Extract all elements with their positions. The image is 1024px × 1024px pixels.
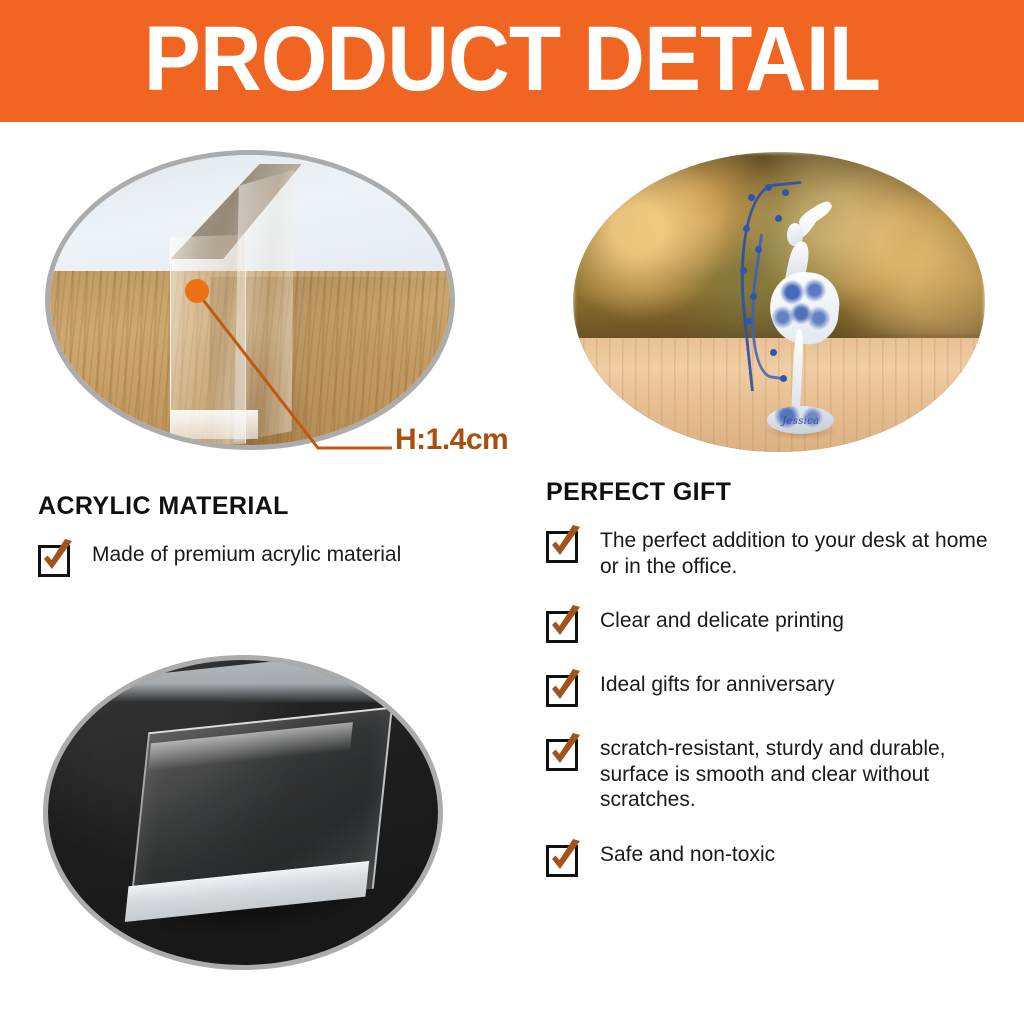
feature-text: Ideal gifts for anniversary bbox=[600, 667, 835, 698]
photo-block-base-highlight bbox=[170, 410, 258, 439]
page-title: PRODUCT DETAIL bbox=[144, 13, 880, 105]
photo-ballerina-figurine: Jessica bbox=[573, 152, 985, 452]
check-icon bbox=[546, 839, 584, 877]
photo-acrylic-block-edge bbox=[45, 150, 455, 450]
check-icon bbox=[546, 525, 584, 563]
list-item: Clear and delicate printing bbox=[546, 603, 1001, 643]
blossom-dot bbox=[780, 375, 787, 382]
checkbox-checked[interactable] bbox=[546, 525, 584, 563]
feature-text: Safe and non-toxic bbox=[600, 837, 775, 868]
list-item: Ideal gifts for anniversary bbox=[546, 667, 1001, 707]
check-icon bbox=[546, 733, 584, 771]
feature-text: The perfect addition to your desk at hom… bbox=[600, 523, 1001, 579]
feature-text: scratch-resistant, sturdy and durable, s… bbox=[600, 731, 1001, 813]
check-icon bbox=[38, 539, 76, 577]
checkbox-checked[interactable] bbox=[546, 733, 584, 771]
page-header-banner: PRODUCT DETAIL bbox=[0, 0, 1024, 122]
checkbox-checked[interactable] bbox=[38, 539, 76, 577]
photo-acrylic-slab bbox=[43, 655, 443, 970]
feature-list-perfect-gift: The perfect addition to your desk at hom… bbox=[546, 523, 1001, 877]
check-icon bbox=[546, 605, 584, 643]
check-icon bbox=[546, 669, 584, 707]
checkbox-checked[interactable] bbox=[546, 839, 584, 877]
list-item: Made of premium acrylic material bbox=[38, 537, 518, 577]
checkbox-checked[interactable] bbox=[546, 669, 584, 707]
figurine-base-engraving: Jessica bbox=[767, 416, 834, 427]
blossom-dot bbox=[740, 267, 747, 274]
feature-text: Made of premium acrylic material bbox=[92, 537, 401, 568]
feature-text: Clear and delicate printing bbox=[600, 603, 844, 634]
section-heading-perfect-gift: PERFECT GIFT bbox=[546, 478, 1001, 507]
figurine-group: Jessica bbox=[738, 179, 862, 437]
checkbox-checked[interactable] bbox=[546, 605, 584, 643]
section-acrylic-material: ACRYLIC MATERIAL Made of premium acrylic… bbox=[38, 492, 518, 601]
list-item: The perfect addition to your desk at hom… bbox=[546, 523, 1001, 579]
blossom-dot bbox=[750, 293, 757, 300]
photo-block-side-face bbox=[234, 170, 294, 443]
blossom-dot bbox=[775, 215, 782, 222]
list-item: scratch-resistant, sturdy and durable, s… bbox=[546, 731, 1001, 813]
section-heading-acrylic-material: ACRYLIC MATERIAL bbox=[38, 492, 518, 521]
list-item: Safe and non-toxic bbox=[546, 837, 1001, 877]
feature-list-acrylic-material: Made of premium acrylic material bbox=[38, 537, 518, 577]
section-perfect-gift: PERFECT GIFT The perfect addition to you… bbox=[546, 478, 1001, 901]
